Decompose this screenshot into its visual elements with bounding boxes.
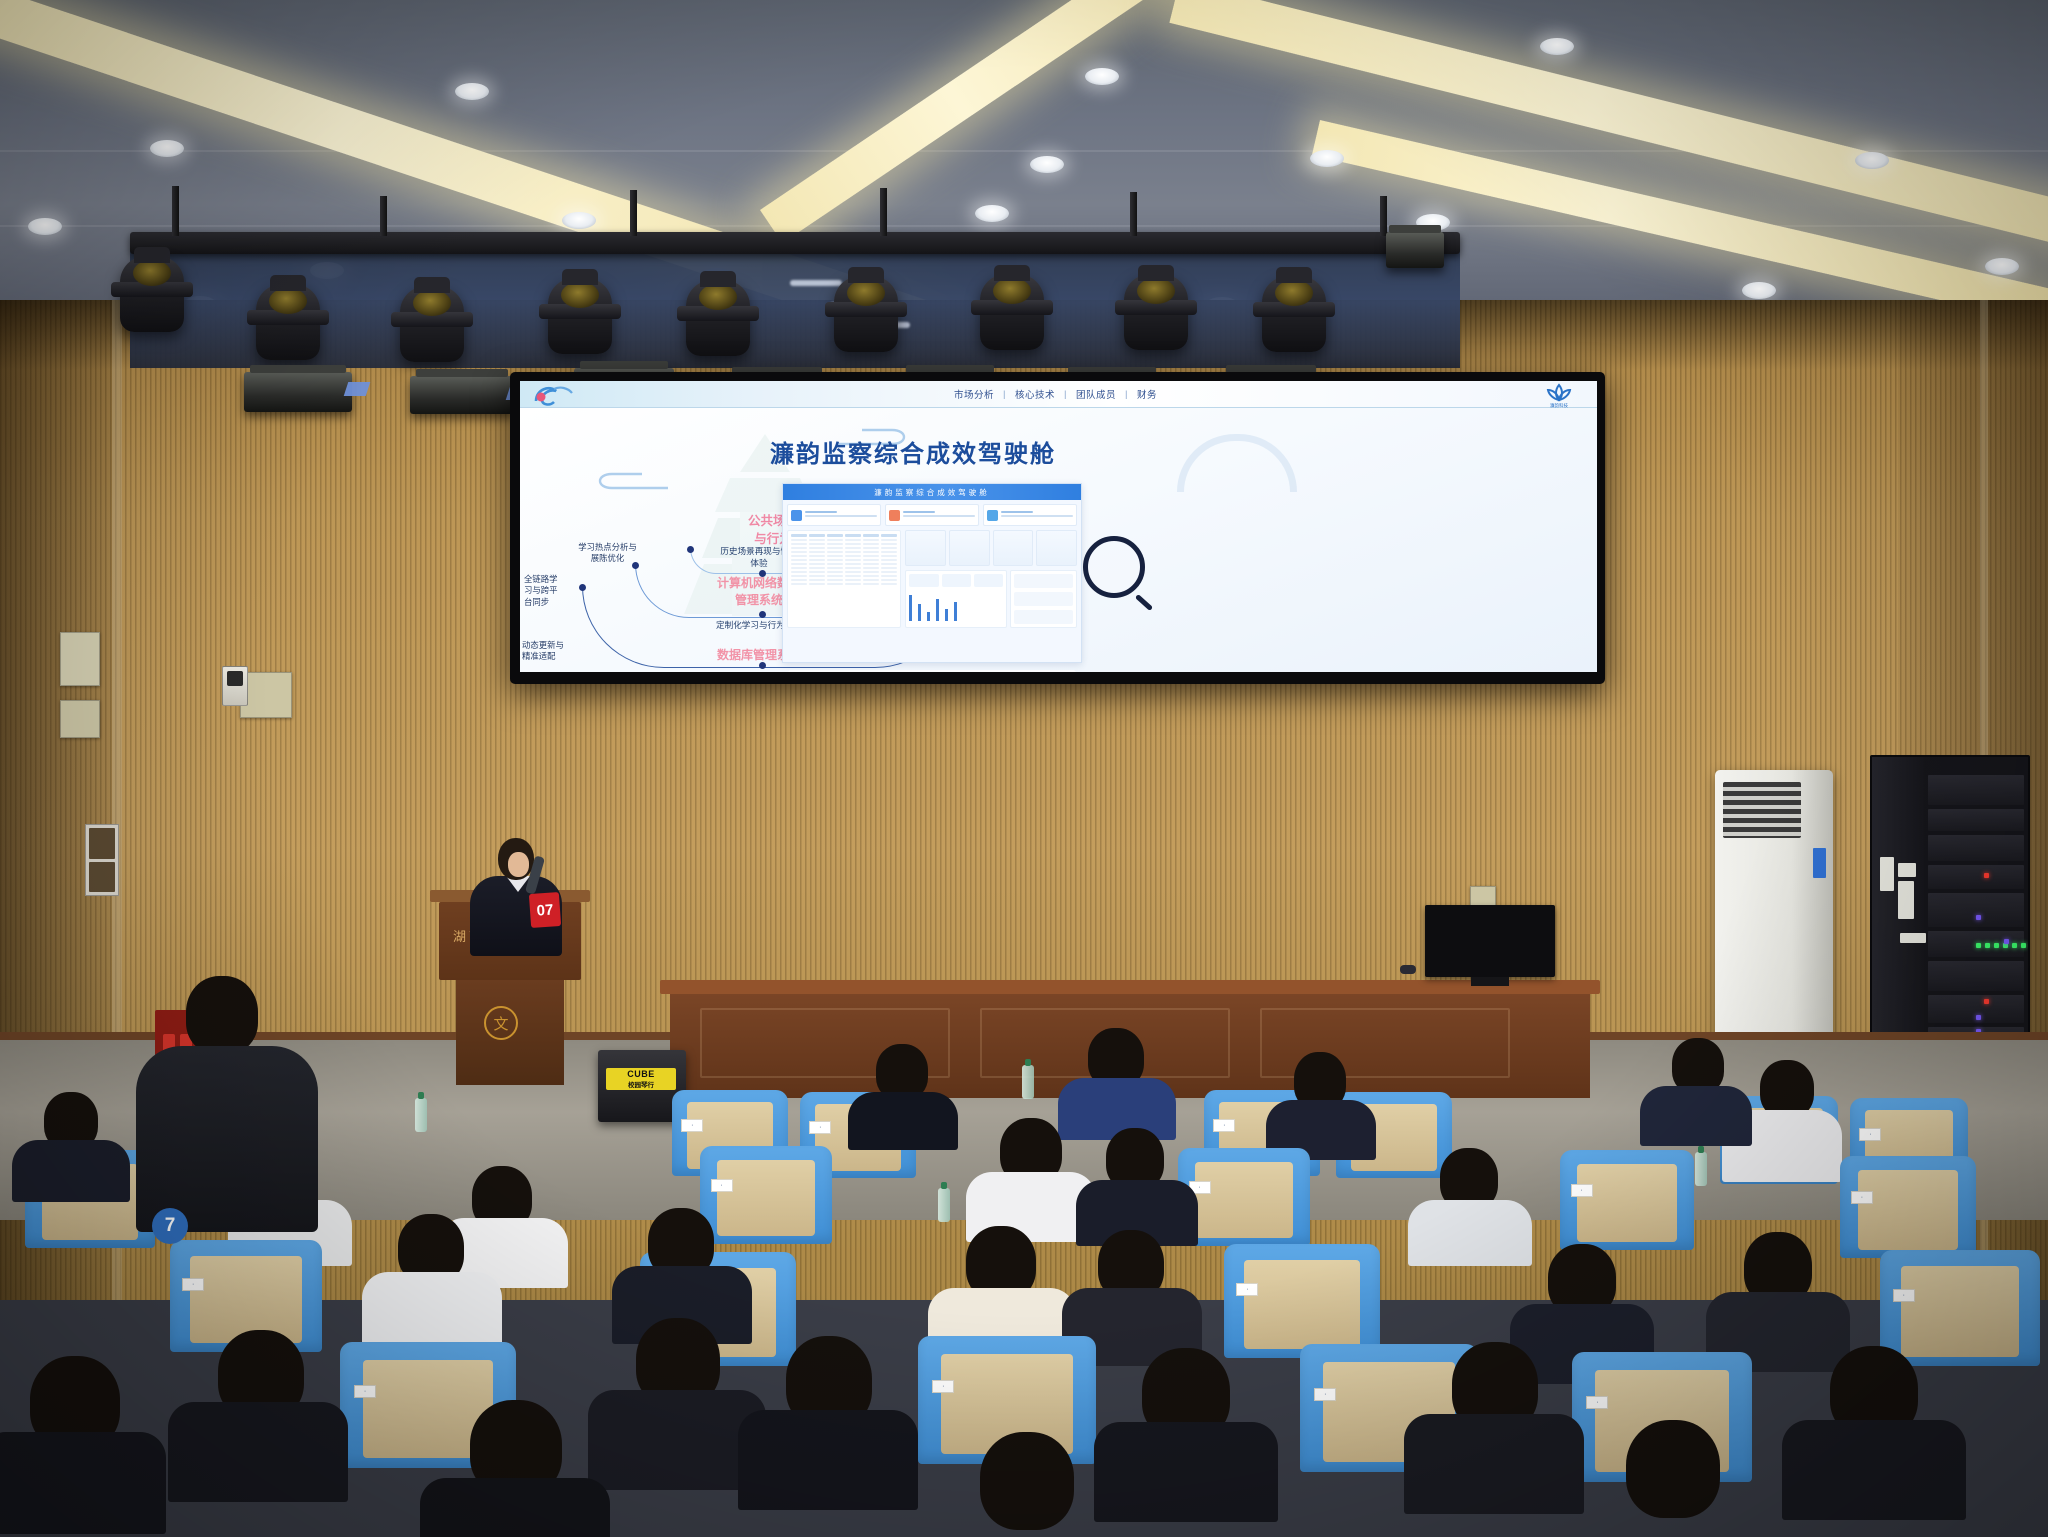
downlight-icon (1085, 68, 1119, 85)
arc-label-left-2: 动态更新与精准适配 (522, 640, 618, 663)
lecture-hall-photo: 市场分析 | 核心技术 | 团队成员 | 财务 濂韵科技 (0, 0, 2048, 1537)
audience-head (980, 1432, 1074, 1530)
water-bottle (1695, 1152, 1707, 1186)
auditorium-seat[interactable]: · (1880, 1250, 2040, 1366)
dashboard-bar-chart (909, 587, 1003, 621)
stage-light (834, 276, 898, 352)
kpi-card (787, 504, 881, 526)
dashboard-mockup: 濂韵监察综合成效驾驶舱 (782, 483, 1082, 663)
auditorium-seat[interactable]: · (700, 1146, 832, 1244)
arch-watermark-icon (1177, 434, 1297, 492)
stage-light (1124, 274, 1188, 350)
audience-body (1094, 1422, 1278, 1522)
projector-housing (1386, 232, 1444, 268)
wall-panel-box (60, 632, 100, 686)
school-crest-icon: 文 (484, 1006, 518, 1040)
nav-separator: | (1003, 389, 1006, 400)
downlight-icon (1985, 258, 2019, 275)
slide-nav-bar: 市场分析 | 核心技术 | 团队成员 | 财务 濂韵科技 (520, 381, 1597, 408)
desktop-monitor (1425, 905, 1555, 977)
kpi-card (885, 504, 979, 526)
amplifier-brand: CUBE 校园琴行 (606, 1068, 676, 1090)
stage-light (980, 274, 1044, 350)
nav-item-2[interactable]: 团队成员 (1076, 387, 1116, 401)
audience-body (420, 1478, 610, 1537)
stage-light (120, 256, 184, 332)
presentation-screen: 市场分析 | 核心技术 | 团队成员 | 财务 濂韵科技 (510, 372, 1605, 684)
nav-item-0[interactable]: 市场分析 (954, 387, 994, 401)
stage-light (686, 280, 750, 356)
downlight-icon (455, 83, 489, 100)
presenter-face (508, 852, 529, 877)
ac-vent-icon (1723, 782, 1801, 838)
nav-separator: | (1125, 389, 1128, 400)
arc-label-left-0: 学习热点分析与展陈优化 (550, 542, 665, 565)
dashboard-right-col (905, 530, 1077, 628)
stage-light (400, 286, 464, 362)
downlight-icon (1030, 156, 1064, 173)
slide-title: 濂韵监察综合成效驾驶舱 (770, 434, 1056, 469)
audience-body (1058, 1078, 1176, 1140)
water-bottle (415, 1098, 427, 1132)
kpi-card (983, 504, 1077, 526)
air-conditioner (1715, 770, 1833, 1070)
downlight-icon (1742, 282, 1776, 299)
audience-body (12, 1140, 130, 1202)
water-bottle (938, 1188, 950, 1222)
downlight-icon (975, 205, 1009, 222)
nav-item-3[interactable]: 财务 (1137, 387, 1157, 401)
audience-body (1782, 1420, 1966, 1520)
nav-separator: | (1064, 389, 1067, 400)
downlight-icon (150, 140, 184, 157)
dashboard-header: 濂韵监察综合成效驾驶舱 (783, 484, 1081, 500)
seat-number-badge: 7 (152, 1208, 188, 1244)
downlight-icon (1310, 150, 1344, 167)
dashboard-table (787, 530, 901, 628)
swirl-wave-logo-icon (530, 381, 572, 407)
arc-label-left-1: 全链路学习与跨平台同步 (524, 574, 594, 608)
audience-body (168, 1402, 348, 1502)
contestant-number-badge: 07 (529, 892, 561, 928)
audience-body (0, 1432, 166, 1534)
downlight-icon (562, 212, 596, 229)
computer-mouse-icon[interactable] (1400, 965, 1416, 974)
green-points-box: 地方特色资源挖掘 廉政教育基地共建 AI实时案例抓取 多场景应用覆盖 分层分级内… (788, 670, 1076, 672)
projector-housing (410, 376, 514, 414)
audience-body (362, 1272, 502, 1350)
slide-nav-items: 市场分析 | 核心技术 | 团队成员 | 财务 (572, 387, 1539, 401)
slide-content: 濂韵监察综合成效驾驶舱 公共场所检测技术 与行为分析管理 (520, 408, 1597, 672)
wall-speaker-icon (222, 666, 248, 706)
slide-surface: 市场分析 | 核心技术 | 团队成员 | 财务 濂韵科技 (520, 381, 1597, 672)
wave-decoration-icon (582, 468, 672, 499)
audience-body (738, 1410, 918, 1510)
projector-housing (244, 372, 352, 412)
wall-panel-box (60, 700, 100, 738)
ac-brand-badge (1813, 848, 1826, 878)
stage-light (1262, 276, 1326, 352)
auditorium-seat[interactable]: · (1560, 1150, 1694, 1250)
audience-head (1626, 1420, 1720, 1518)
stage-light (548, 278, 612, 354)
nav-item-1[interactable]: 核心技术 (1015, 387, 1055, 401)
lighting-truss (130, 232, 1460, 254)
water-bottle (1022, 1065, 1034, 1099)
wall-outlet (1470, 886, 1496, 906)
wall-light-switch[interactable] (85, 824, 119, 896)
auditorium-seat[interactable]: · (1224, 1244, 1380, 1358)
audience-body (1404, 1414, 1584, 1514)
dashboard-chart-card (905, 570, 1007, 628)
downlight-icon (28, 218, 62, 235)
downlight-icon (1855, 152, 1889, 169)
lotus-flower-logo-icon: 濂韵科技 (1539, 381, 1579, 407)
audience-body (1640, 1086, 1752, 1146)
dashboard-kpi-row (783, 500, 1081, 530)
stage-light (256, 284, 320, 360)
downlight-icon (1540, 38, 1574, 55)
audience-body (1408, 1200, 1532, 1266)
audience-body (848, 1092, 958, 1150)
auditorium-seat[interactable]: · (1840, 1156, 1976, 1258)
magnifying-glass-icon (1083, 536, 1145, 598)
dashboard-stat-card (1010, 570, 1077, 628)
dashboard-columns (783, 530, 1081, 632)
dashboard-info-cards (905, 530, 1077, 566)
